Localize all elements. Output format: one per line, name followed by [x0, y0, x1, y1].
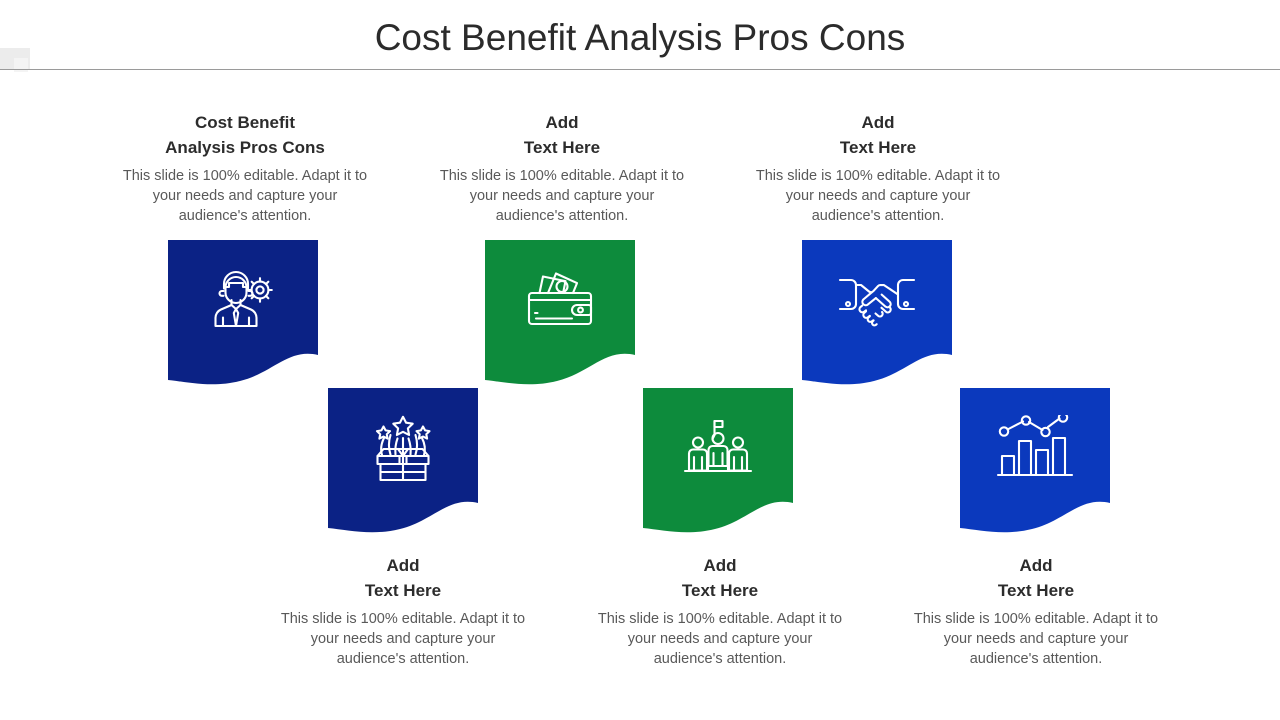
page-title: Cost Benefit Analysis Pros Cons — [0, 16, 1280, 60]
bar-chart-trend-icon — [960, 388, 1110, 508]
gift-box-burst-icon — [328, 388, 478, 508]
card-6-text: Add Text Here This slide is 100% editabl… — [911, 553, 1161, 669]
card-3[interactable] — [802, 240, 952, 388]
card-2-body: This slide is 100% editable. Adapt it to… — [437, 166, 687, 226]
card-3-body: This slide is 100% editable. Adapt it to… — [753, 166, 1003, 226]
card-5-body: This slide is 100% editable. Adapt it to… — [595, 609, 845, 669]
card-1-text: Cost Benefit Analysis Pros Cons This sli… — [120, 110, 370, 226]
card-3-text: Add Text Here This slide is 100% editabl… — [753, 110, 1003, 226]
card-6-heading: Add Text Here — [911, 553, 1161, 603]
card-1[interactable] — [168, 240, 318, 388]
title-divider — [0, 69, 1280, 70]
card-3-heading: Add Text Here — [753, 110, 1003, 160]
card-5-heading: Add Text Here — [595, 553, 845, 603]
card-1-body: This slide is 100% editable. Adapt it to… — [120, 166, 370, 226]
user-gear-icon — [168, 240, 318, 360]
card-6[interactable] — [960, 388, 1110, 536]
handshake-icon — [802, 240, 952, 360]
team-podium-flag-icon — [643, 388, 793, 508]
card-5[interactable] — [643, 388, 793, 536]
card-2-heading: Add Text Here — [437, 110, 687, 160]
card-4-text: Add Text Here This slide is 100% editabl… — [278, 553, 528, 669]
card-4[interactable] — [328, 388, 478, 536]
card-6-body: This slide is 100% editable. Adapt it to… — [911, 609, 1161, 669]
wallet-money-icon — [485, 240, 635, 360]
card-1-heading: Cost Benefit Analysis Pros Cons — [120, 110, 370, 160]
card-4-body: This slide is 100% editable. Adapt it to… — [278, 609, 528, 669]
card-4-heading: Add Text Here — [278, 553, 528, 603]
card-5-text: Add Text Here This slide is 100% editabl… — [595, 553, 845, 669]
card-2-text: Add Text Here This slide is 100% editabl… — [437, 110, 687, 226]
card-2[interactable] — [485, 240, 635, 388]
